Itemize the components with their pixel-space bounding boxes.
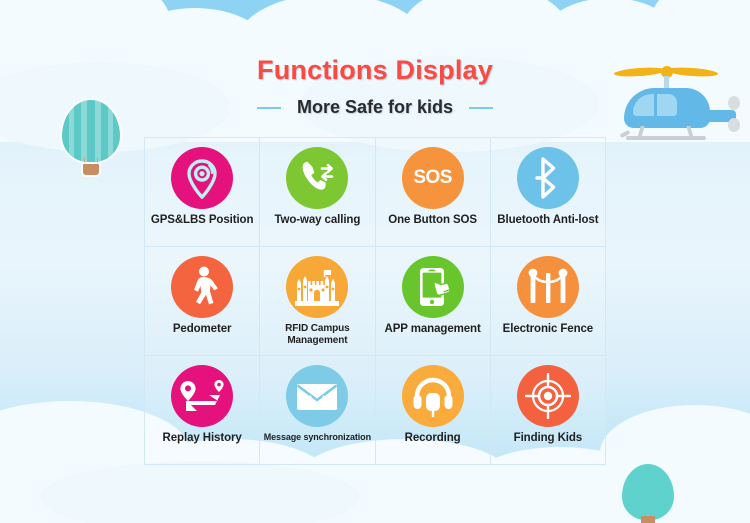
feature-label: APP management [385,323,481,336]
envelope-icon [286,365,348,427]
location-pin-icon [171,147,233,209]
sos-icon: SOS [402,147,464,209]
title-block: Functions Display More Safe for kids [0,55,750,118]
route-replay-glyph [171,365,233,427]
feature-label: Finding Kids [514,432,582,445]
feature-cell-bluetooth-anti-lost[interactable]: Bluetooth Anti-lost [491,138,606,247]
balloon-envelope [622,464,674,520]
smartphone-tap-glyph [402,256,464,318]
smartphone-tap-icon [402,256,464,318]
balloon-basket [641,516,655,523]
campus-castle-icon [286,256,348,318]
feature-cell-one-button-sos[interactable]: SOS One Button SOS [376,138,491,247]
feature-cell-finding-kids[interactable]: Finding Kids [491,356,606,465]
page-subtitle: More Safe for kids [297,97,453,118]
fence-posts-icon [517,256,579,318]
landing-skid [626,136,706,140]
feature-cell-pedometer[interactable]: Pedometer [145,247,260,356]
fence-posts-glyph [517,256,579,318]
feature-label: Electronic Fence [503,323,593,336]
bluetooth-icon [517,147,579,209]
route-replay-icon [171,365,233,427]
feature-cell-rfid-campus-management[interactable]: RFID Campus Management [260,247,375,356]
feature-cell-recording[interactable]: Recording [376,356,491,465]
dash-right-decoration [469,107,493,109]
page-title: Functions Display [0,55,750,86]
location-pin-glyph [171,147,233,209]
cloud-puff [40,461,360,523]
sos-label: SOS [413,167,452,189]
bluetooth-glyph [517,147,579,209]
walking-person-glyph [171,256,233,318]
hot-air-balloon-bottom-right [622,464,682,523]
feature-label: One Button SOS [388,214,477,227]
envelope-glyph [286,365,348,427]
headphones-icon [402,365,464,427]
walking-person-icon [171,256,233,318]
crosshair-target-icon [517,365,579,427]
campus-castle-glyph [286,256,348,318]
feature-cell-message-synchronization[interactable]: Message synchronization [260,356,375,465]
feature-label: RFID Campus Management [285,323,349,346]
crosshair-target-glyph [517,365,579,427]
functions-grid: GPS&LBS Position Two-way calling SOS [144,137,606,465]
feature-cell-replay-history[interactable]: Replay History [145,356,260,465]
feature-label: Recording [405,432,461,445]
phone-handset-glyph [286,147,348,209]
phone-handset-two-arrows-icon [286,147,348,209]
balloon-basket [83,164,99,175]
poster-canvas: Functions Display More Safe for kids [0,0,750,523]
feature-cell-app-management[interactable]: APP management [376,247,491,356]
feature-cell-two-way-calling[interactable]: Two-way calling [260,138,375,247]
tail-rotor [728,118,740,132]
headphones-glyph [402,365,464,427]
feature-label: Pedometer [173,323,232,336]
feature-label: GPS&LBS Position [151,214,254,227]
feature-label: Replay History [163,432,242,445]
feature-label: Two-way calling [274,214,360,227]
feature-label: Message synchronization [264,432,371,442]
dash-left-decoration [257,107,281,109]
feature-label: Bluetooth Anti-lost [497,214,598,227]
feature-cell-gps-lbs-position[interactable]: GPS&LBS Position [145,138,260,247]
feature-cell-electronic-fence[interactable]: Electronic Fence [491,247,606,356]
subtitle-row: More Safe for kids [0,97,750,118]
sos-text-glyph: SOS [402,147,464,209]
